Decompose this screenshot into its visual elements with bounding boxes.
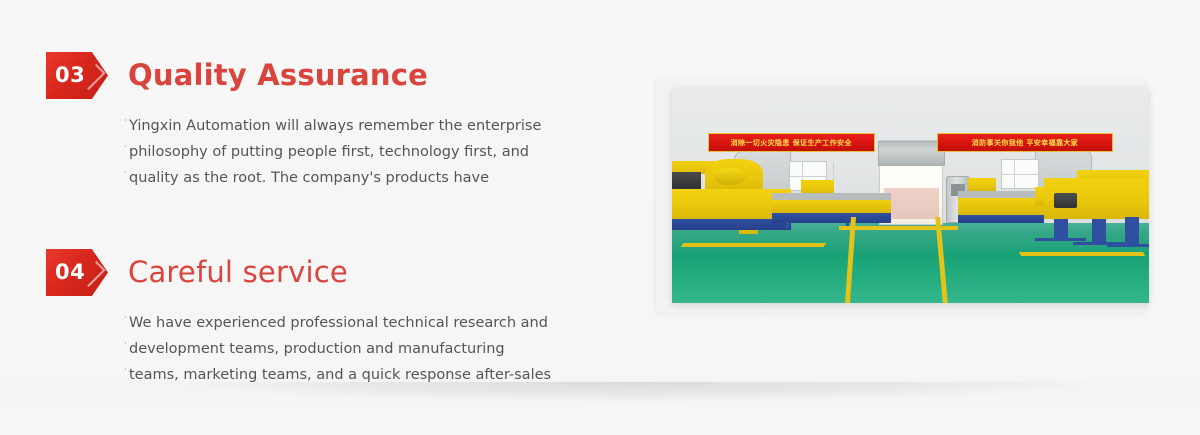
feature-body-04: We have experienced professional technic… xyxy=(129,310,604,388)
photo-floor xyxy=(672,223,1149,303)
workshop-photo: 消除一切火灾隐患 保证生产工作安全 消防事关你我他 平安幸福靠大家 xyxy=(672,88,1149,303)
photo-machine-right-foot xyxy=(1125,217,1139,247)
photo-safety-banner-right: 消防事关你我他 平安幸福靠大家 xyxy=(937,133,1113,152)
photo-floor-marking xyxy=(680,243,826,247)
feature-body-line: We have experienced professional technic… xyxy=(129,310,604,336)
feature-number-badge-04: 04 xyxy=(46,249,108,296)
feature-block-04: 04 Careful service We have experienced p… xyxy=(46,249,626,388)
photo-conveyor-right-legs xyxy=(958,215,1044,224)
photo-machine-right-dark xyxy=(1054,193,1078,208)
feature-body-line: Yingxin Automation will always remember … xyxy=(129,113,604,139)
photo-machine-right-small xyxy=(968,178,997,191)
feature-number-badge-03: 03 xyxy=(46,52,108,99)
feature-body-line: development teams, production and manufa… xyxy=(129,336,604,362)
feature-header-04: 04 Careful service xyxy=(46,249,626,296)
feature-title-03: Quality Assurance xyxy=(128,61,428,90)
photo-machine-left-drum xyxy=(713,168,746,185)
photo-door-header xyxy=(878,141,945,166)
feature-number-04: 04 xyxy=(46,262,85,283)
photo-safety-banner-left: 消除一切火灾隐患 保证生产工作安全 xyxy=(708,133,875,152)
feature-title-04: Careful service xyxy=(128,258,348,287)
photo-machine-right-foot xyxy=(1092,219,1106,245)
photo-conveyor-left-legs xyxy=(772,213,891,224)
page-root: 03 Quality Assurance Yingxin Automation … xyxy=(0,0,1200,435)
feature-header-03: 03 Quality Assurance xyxy=(46,52,626,99)
feature-body-line: teams, marketing teams, and a quick resp… xyxy=(129,362,604,388)
photo-card: 消除一切火灾隐患 保证生产工作安全 消防事关你我他 平安幸福靠大家 xyxy=(656,78,1145,313)
photo-machine-right-foot xyxy=(1054,219,1068,241)
feature-number-03: 03 xyxy=(46,65,85,86)
photo-door-light xyxy=(884,188,939,220)
photo-floor-marking xyxy=(1019,252,1145,256)
photo-conveyor-right-body xyxy=(958,198,1044,215)
feature-body-line: quality as the root. The company's produ… xyxy=(129,165,604,191)
feature-body-03: Yingxin Automation will always remember … xyxy=(129,113,604,191)
photo-conveyor-left-body xyxy=(772,200,891,213)
feature-body-line: philosophy of putting people first, tech… xyxy=(129,139,604,165)
features-column: 03 Quality Assurance Yingxin Automation … xyxy=(46,52,626,388)
feature-block-03: 03 Quality Assurance Yingxin Automation … xyxy=(46,52,626,191)
photo-window-right xyxy=(1001,159,1039,189)
